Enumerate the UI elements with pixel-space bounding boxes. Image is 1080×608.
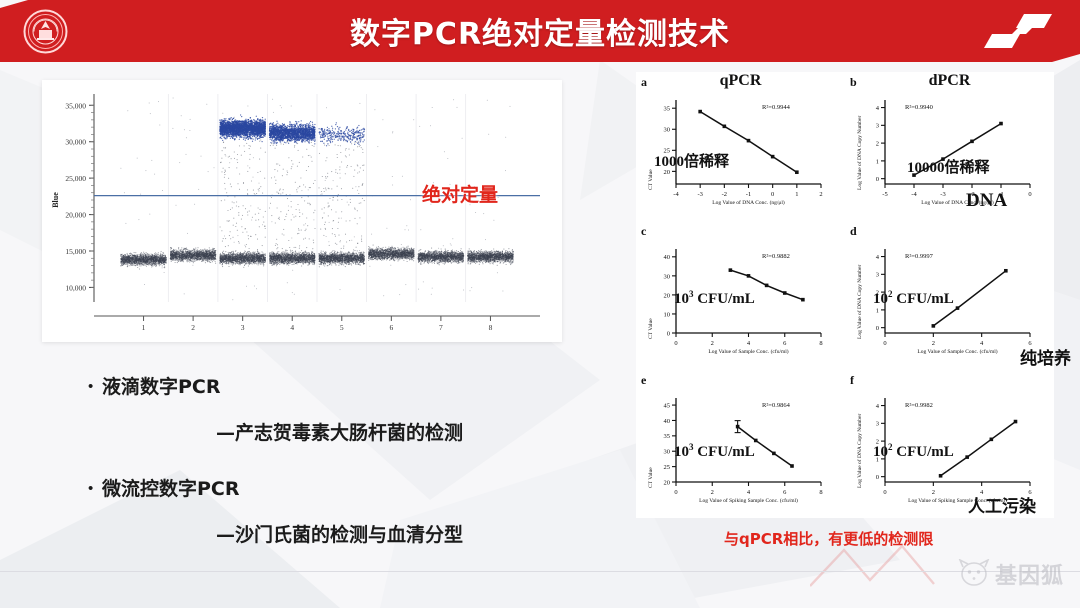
figure-panel-e: 02468202530354045eR²=0.9864103 CFU/mLLog…	[636, 370, 845, 518]
y-axis-title: Log Value of DNA Copy Number	[857, 414, 863, 488]
svg-text:35,000: 35,000	[65, 101, 86, 110]
svg-text:5: 5	[340, 323, 344, 332]
panel-letter-d: d	[850, 224, 857, 239]
inplot-label: 10000倍稀释	[907, 156, 990, 177]
calibration-figure-grid: -4-3-2-101220253035aqPCRR²=0.99441000倍稀释…	[636, 72, 1054, 518]
svg-text:15,000: 15,000	[65, 247, 86, 256]
y-axis-title: Log Value of DNA Copy Number	[857, 116, 863, 190]
r-squared-label: R²=0.9940	[905, 104, 933, 111]
bullet-item-2: • 微流控数字PCR	[88, 474, 608, 504]
bullet-sub-1: —产志贺毒素大肠杆菌的检测	[216, 404, 608, 448]
decorative-swoosh	[810, 540, 960, 590]
bullet-list: • 液滴数字PCR —产志贺毒素大肠杆菌的检测 • 微流控数字PCR —沙门氏菌…	[88, 372, 608, 550]
y-axis-title: Log Value of DNA Copy Number	[857, 265, 863, 339]
panel-letter-f: f	[850, 373, 854, 388]
y-axis-title: CT Value	[648, 318, 654, 339]
y-axis-title: CT Value	[648, 467, 654, 488]
slide-canvas: 数字PCR绝对定量检测技术 10,00015,00020,00025,00030…	[0, 0, 1080, 608]
x-axis-title: Log Value of DNA Conc. (ng/μl)	[666, 200, 831, 206]
row-tag-spiked: 人工污染	[968, 492, 1036, 517]
svg-text:25,000: 25,000	[65, 174, 86, 183]
svg-text:4: 4	[290, 323, 294, 332]
x-axis-title: Log Value of Spiking Sample Conc. (cfu/m…	[666, 498, 831, 504]
svg-text:6: 6	[389, 323, 393, 332]
inplot-label: 103 CFU/mL	[674, 289, 755, 308]
row-tag-pure-culture: 纯培养	[1020, 344, 1071, 369]
inplot-label: 102 CFU/mL	[873, 442, 954, 461]
watermark-text: 基因狐	[995, 558, 1064, 590]
panel-title-qPCR: qPCR	[636, 72, 845, 90]
figure-panel-b: -5-4-3-2-1001234bdPCRR²=0.994010000倍稀释Lo…	[845, 72, 1054, 220]
figure-panel-c: 02468010203040cR²=0.9882103 CFU/mLLog Va…	[636, 221, 845, 369]
row-tag-dna: DNA	[966, 190, 1007, 212]
panel-letter-e: e	[641, 373, 646, 388]
inplot-label: 1000倍稀释	[654, 150, 729, 171]
watermark: 基因狐	[957, 552, 1064, 596]
bullet-marker: •	[88, 372, 102, 402]
svg-text:8: 8	[489, 323, 493, 332]
bullet-text-2: 微流控数字PCR	[102, 474, 240, 504]
svg-text:10,000: 10,000	[65, 283, 86, 292]
svg-text:1: 1	[142, 323, 146, 332]
svg-text:20,000: 20,000	[65, 211, 86, 220]
x-axis-title: Log Value of DNA Conc. (ng/μl)	[875, 200, 1040, 206]
corner-flag-mark	[982, 8, 1062, 52]
r-squared-label: R²=0.9997	[905, 253, 933, 260]
y-axis-title: CT Value	[648, 169, 654, 190]
panel-letter-c: c	[641, 224, 646, 239]
ddpcr-amplitude-chart: 10,00015,00020,00025,00030,00035,000Blue…	[42, 80, 562, 342]
bullet-item-1: • 液滴数字PCR	[88, 372, 608, 402]
ddpcr-scatter-plot: 10,00015,00020,00025,00030,00035,000Blue…	[42, 80, 562, 342]
x-axis-title: Log Value of Sample Conc. (cfu/ml)	[875, 349, 1040, 355]
panel-title-dPCR: dPCR	[845, 72, 1054, 90]
x-axis-title: Log Value of Sample Conc. (cfu/ml)	[666, 349, 831, 355]
bullet-marker: •	[88, 474, 102, 504]
bullet-sub-2: —沙门氏菌的检测与血清分型	[216, 506, 608, 550]
r-squared-label: R²=0.9944	[762, 104, 790, 111]
figure-panel-a: -4-3-2-101220253035aqPCRR²=0.99441000倍稀释…	[636, 72, 845, 220]
inplot-label: 103 CFU/mL	[674, 442, 755, 461]
svg-text:2: 2	[191, 323, 195, 332]
university-seal-logo	[23, 9, 68, 54]
r-squared-label: R²=0.9982	[905, 402, 933, 409]
svg-text:3: 3	[241, 323, 245, 332]
footer-divider	[0, 571, 1080, 572]
bullet-text-1: 液滴数字PCR	[102, 372, 221, 402]
page-title: 数字PCR绝对定量检测技术	[0, 0, 1080, 62]
fox-face-icon	[957, 559, 991, 589]
absolute-quantification-annotation: 绝对定量	[422, 180, 498, 207]
r-squared-label: R²=0.9864	[762, 402, 790, 409]
title-banner: 数字PCR绝对定量检测技术	[0, 0, 1080, 62]
r-squared-label: R²=0.9882	[762, 253, 790, 260]
svg-text:30,000: 30,000	[65, 138, 86, 147]
inplot-label: 102 CFU/mL	[873, 289, 954, 308]
svg-text:Blue: Blue	[51, 192, 60, 208]
svg-text:7: 7	[439, 323, 443, 332]
